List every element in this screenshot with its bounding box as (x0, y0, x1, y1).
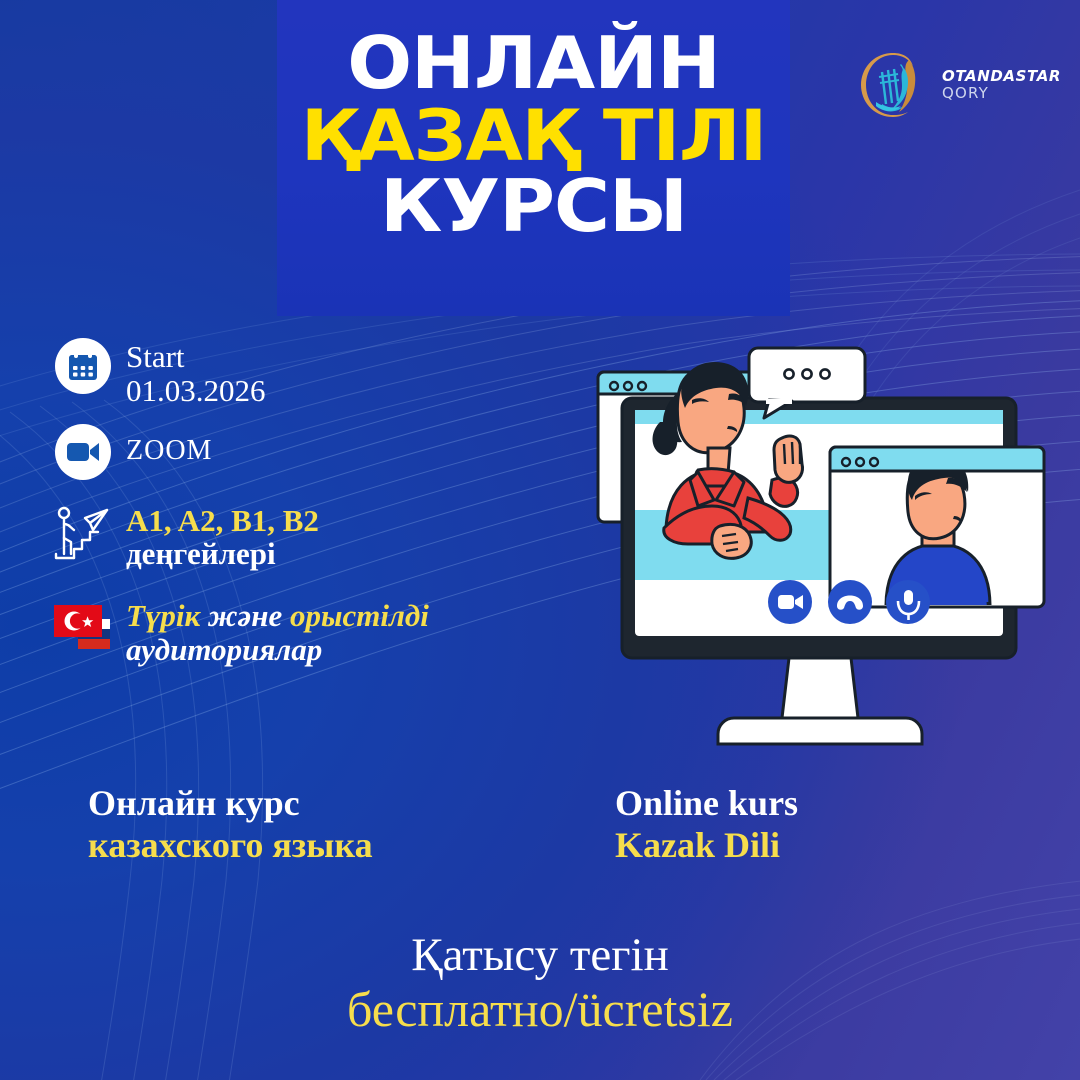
stairs-plane-icon (52, 502, 114, 566)
info-row-text: ZOOM (114, 424, 212, 467)
call-controls[interactable] (768, 580, 930, 624)
bottom-left-line-1: Онлайн курс (88, 782, 373, 824)
call-to-action: Қатысу тегін бесплатно/ücretsiz (0, 930, 1080, 1037)
info-row-text: Түрік және орыстілді аудиториялар (114, 597, 429, 667)
cta-line-1: Қатысу тегін (0, 930, 1080, 982)
poster-canvas: ОНЛАЙН ҚАЗАҚ ТІЛІ КУРСЫ OTANDASTAR (0, 0, 1080, 1080)
info-row-text: A1, A2, B1, B2 деңгейлері (114, 502, 319, 572)
bottom-text-turkish: Online kurs Kazak Dili (615, 782, 798, 866)
info-row-icon-slot (52, 502, 114, 566)
camera-button[interactable] (768, 580, 812, 624)
info-row-platform: ZOOM (52, 424, 572, 480)
audience-conjunction-wrap: және (200, 598, 290, 633)
brand-subname: QORY (942, 85, 1061, 102)
video-call-illustration (586, 330, 1056, 750)
microphone-button[interactable] (886, 580, 930, 624)
title-line-3: КУРСЫ (262, 173, 806, 241)
info-row-icon-slot (52, 597, 114, 661)
levels-value: A1, A2, B1, B2 (126, 504, 319, 538)
bottom-left-line-2: казахского языка (88, 824, 373, 866)
info-row-levels: A1, A2, B1, B2 деңгейлері (52, 502, 572, 572)
turkish-flag-icon (54, 605, 102, 637)
poster-title: ОНЛАЙН ҚАЗАҚ ТІЛІ КУРСЫ (277, 30, 790, 241)
audiences-line-2: аудиториялар (126, 633, 429, 667)
brand-logo-text: OTANDASTAR QORY (942, 68, 1061, 102)
audience-turkish: Түрік (126, 598, 200, 633)
info-row-start-date: Start 01.03.2026 (52, 338, 572, 408)
info-row-icon-slot (52, 424, 114, 480)
calendar-icon (66, 349, 100, 383)
audiences-line-1: Түрік және орыстілді (126, 599, 429, 633)
info-row-icon-slot (52, 338, 114, 394)
audience-russian: орыстілді (290, 598, 429, 633)
turkish-russian-flags-icon (52, 597, 114, 661)
bottom-right-line-2: Kazak Dili (615, 824, 798, 866)
title-line-2: ҚАЗАҚ ТІЛІ (262, 104, 806, 170)
end-call-button[interactable] (828, 580, 872, 624)
info-row-text: Start 01.03.2026 (114, 338, 266, 408)
bottom-right-line-1: Online kurs (615, 782, 798, 824)
icon-circle (55, 338, 111, 394)
bottom-text-russian: Онлайн курс казахского языка (88, 782, 373, 866)
info-row-audiences: Түрік және орыстілді аудиториялар (52, 597, 572, 667)
start-date-value: 01.03.2026 (126, 374, 266, 408)
cta-line-2: бесплатно/ücretsiz (0, 982, 1080, 1037)
brand-logo: OTANDASTAR QORY (852, 44, 1052, 126)
video-camera-icon (65, 439, 101, 465)
platform-value: ZOOM (126, 436, 212, 467)
start-label: Start (126, 340, 266, 374)
brand-name: OTANDASTAR (942, 68, 1061, 85)
audience-conjunction: және (208, 598, 282, 633)
levels-label: деңгейлері (126, 537, 319, 571)
info-list: Start 01.03.2026 ZOOM (52, 338, 572, 683)
title-panel: ОНЛАЙН ҚАЗАҚ ТІЛІ КУРСЫ (277, 0, 790, 316)
title-line-1: ОНЛАЙН (262, 30, 806, 98)
icon-circle (55, 424, 111, 480)
otandastar-logo-icon (852, 46, 930, 124)
